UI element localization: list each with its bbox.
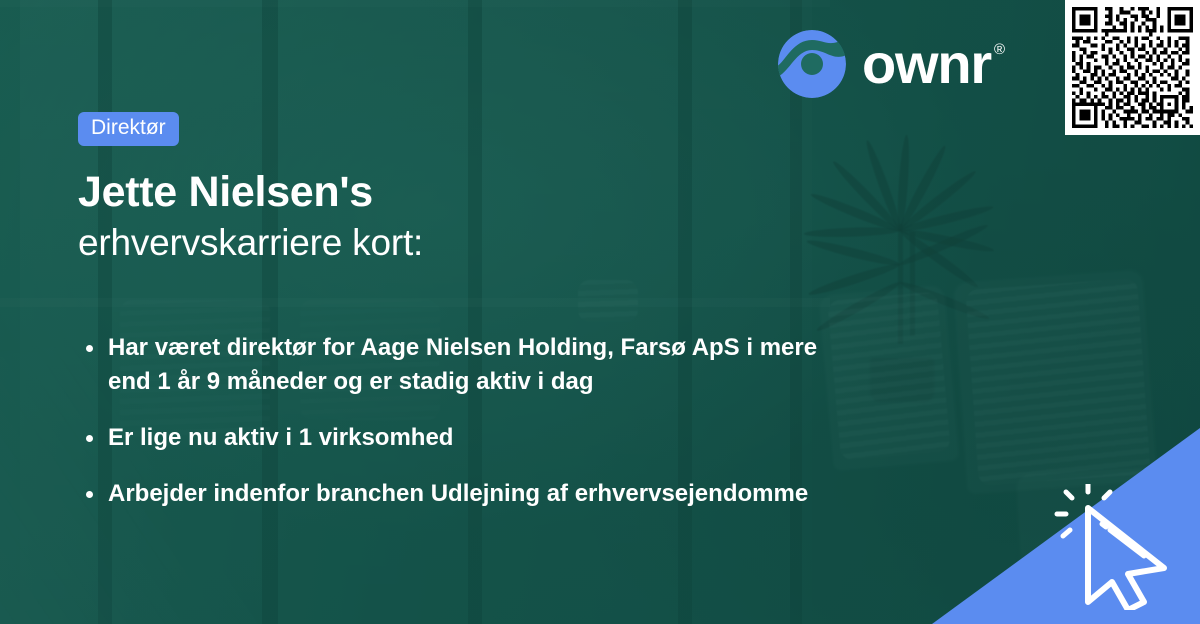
list-item: Har været direktør for Aage Nielsen Hold… <box>78 331 818 399</box>
click-cursor-icon <box>1052 484 1184 610</box>
page-title: Jette Nielsen's <box>78 168 978 217</box>
registered-trademark-icon: ® <box>994 42 1004 57</box>
page-subtitle: erhvervskarriere kort: <box>78 222 978 265</box>
qr-code-panel[interactable] <box>1065 0 1200 135</box>
career-fact-list: Har været direktør for Aage Nielsen Hold… <box>78 331 978 511</box>
list-item: Er lige nu aktiv i 1 virksomhed <box>78 421 818 455</box>
career-card: ownr ® <box>0 0 1200 624</box>
ownr-wordmark: ownr ® <box>862 36 1004 92</box>
qr-code[interactable] <box>1072 7 1193 128</box>
ownr-wordmark-text: ownr <box>862 36 991 92</box>
role-badge: Direktør <box>78 112 179 146</box>
ownr-circle-mark-icon <box>778 30 846 98</box>
ownr-logo[interactable]: ownr ® <box>778 30 1004 98</box>
list-item: Arbejder indenfor branchen Udlejning af … <box>78 477 818 511</box>
card-content: Direktør Jette Nielsen's erhvervskarrier… <box>78 112 978 511</box>
